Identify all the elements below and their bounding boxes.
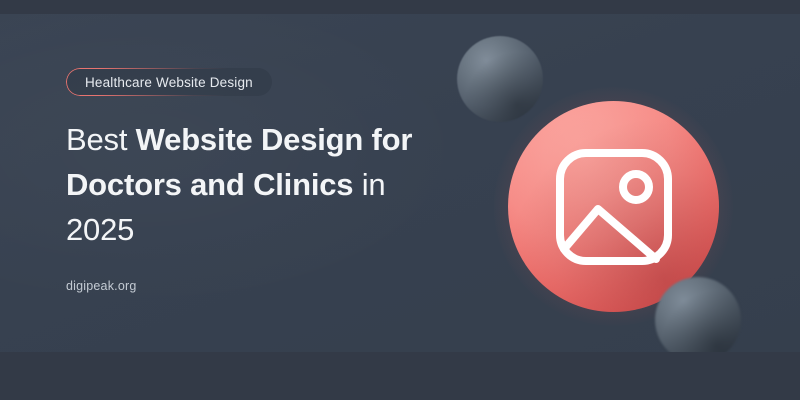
- headline-line-1-light: Best: [66, 122, 136, 157]
- category-badge-label: Healthcare Website Design: [85, 75, 253, 90]
- decorative-sphere-bottom-right: [655, 277, 741, 352]
- decorative-sphere-top-left: [457, 36, 543, 122]
- site-domain: digipeak.org: [66, 279, 466, 293]
- hero-card: Healthcare Website Design Best Website D…: [0, 14, 800, 352]
- headline-line-3-light: 2025: [66, 212, 134, 247]
- headline-line-2-light: in: [353, 167, 385, 202]
- headline-line-2-bold: Doctors and Clinics: [66, 167, 353, 202]
- hero-content: Healthcare Website Design Best Website D…: [66, 68, 466, 293]
- headline-line-1-bold: Website Design for: [136, 122, 413, 157]
- image-placeholder-icon: [552, 145, 676, 269]
- category-badge: Healthcare Website Design: [66, 68, 272, 96]
- thumbnail-canvas: Healthcare Website Design Best Website D…: [0, 0, 800, 400]
- page-title: Best Website Design for Doctors and Clin…: [66, 117, 466, 252]
